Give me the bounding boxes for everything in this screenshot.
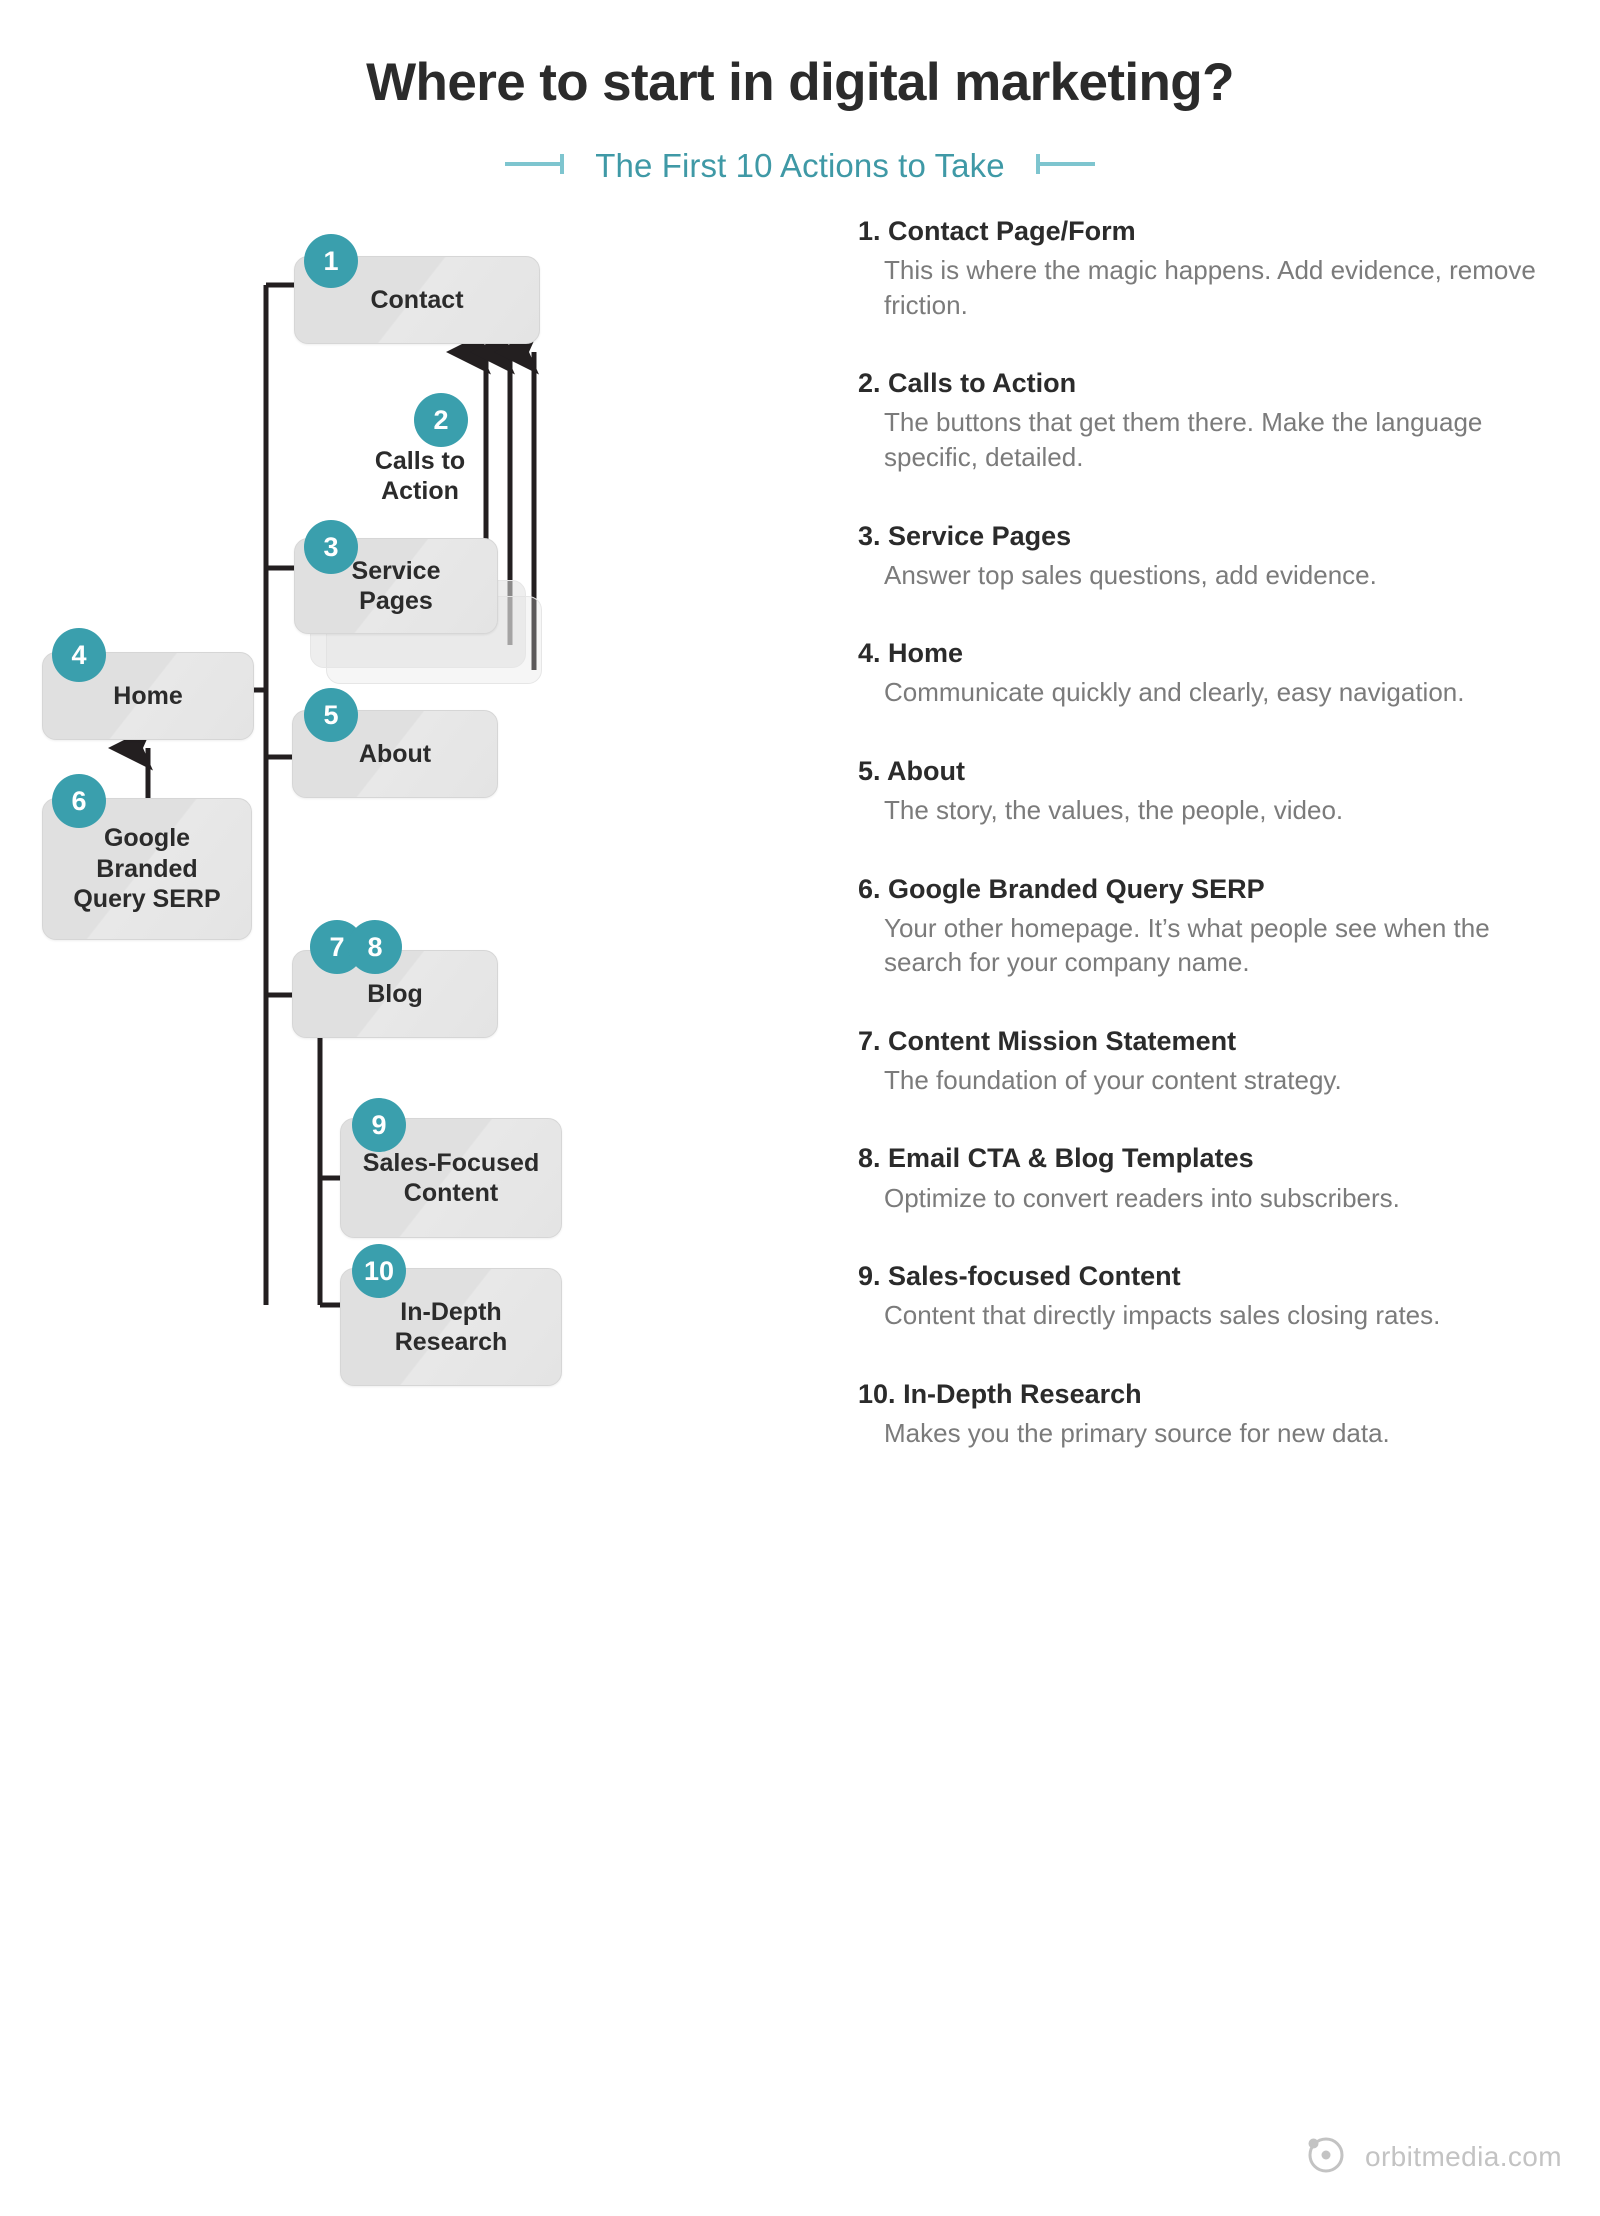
node-in-depth-research-label: In-Depth Research — [381, 1297, 522, 1358]
step-heading: In-Depth Research — [903, 1379, 1142, 1409]
step-heading: Home — [888, 638, 963, 668]
step-item: 9. Sales-focused Content Content that di… — [858, 1259, 1558, 1333]
badge-4: 4 — [52, 628, 106, 682]
step-description: Content that directly impacts sales clos… — [858, 1298, 1558, 1333]
step-description: The foundation of your content strategy. — [858, 1063, 1558, 1098]
step-item: 1. Contact Page/Form This is where the m… — [858, 214, 1558, 322]
content-area: Contact 1 Calls to Action 2 Service Page… — [0, 200, 1600, 2100]
badge-2: 2 — [414, 393, 468, 447]
step-heading: About — [887, 756, 965, 786]
step-description: The story, the values, the people, video… — [858, 793, 1558, 828]
step-number: 3. — [858, 521, 881, 551]
step-item: 3. Service Pages Answer top sales questi… — [858, 519, 1558, 593]
step-number: 8. — [858, 1143, 881, 1173]
step-heading: Email CTA & Blog Templates — [888, 1143, 1254, 1173]
node-service-pages-label: Service Pages — [338, 556, 455, 617]
step-item: 7. Content Mission Statement The foundat… — [858, 1024, 1558, 1098]
node-google-serp-label: Google Branded Query SERP — [59, 823, 234, 915]
step-heading: Content Mission Statement — [888, 1026, 1236, 1056]
node-calls-to-action-label: Calls to Action — [361, 446, 479, 507]
sitemap-diagram: Contact 1 Calls to Action 2 Service Page… — [0, 200, 820, 2100]
step-number: 2. — [858, 368, 881, 398]
node-home-label: Home — [99, 681, 196, 712]
step-title: 8. Email CTA & Blog Templates — [858, 1141, 1558, 1176]
step-title: 4. Home — [858, 636, 1558, 671]
step-description: Optimize to convert readers into subscri… — [858, 1181, 1558, 1216]
step-description: Makes you the primary source for new dat… — [858, 1416, 1558, 1451]
badge-9: 9 — [352, 1098, 406, 1152]
right-rule-icon — [1031, 151, 1095, 182]
step-number: 9. — [858, 1261, 881, 1291]
step-title: 7. Content Mission Statement — [858, 1024, 1558, 1059]
step-item: 5. About The story, the values, the peop… — [858, 754, 1558, 828]
step-heading: Service Pages — [888, 521, 1071, 551]
step-item: 2. Calls to Action The buttons that get … — [858, 366, 1558, 474]
page-subtitle: The First 10 Actions to Take — [595, 147, 1004, 185]
step-heading: Sales-focused Content — [888, 1261, 1181, 1291]
step-item: 8. Email CTA & Blog Templates Optimize t… — [858, 1141, 1558, 1215]
step-title: 3. Service Pages — [858, 519, 1558, 554]
badge-8: 8 — [348, 920, 402, 974]
step-description: Communicate quickly and clearly, easy na… — [858, 675, 1558, 710]
node-blog-label: Blog — [353, 979, 437, 1010]
step-title: 1. Contact Page/Form — [858, 214, 1558, 249]
badge-10: 10 — [352, 1244, 406, 1298]
step-number: 7. — [858, 1026, 881, 1056]
step-number: 10. — [858, 1379, 896, 1409]
step-number: 5. — [858, 756, 881, 786]
logo-text: orbitmedia.com — [1365, 2141, 1562, 2173]
badge-5: 5 — [304, 688, 358, 742]
step-item: 4. Home Communicate quickly and clearly,… — [858, 636, 1558, 710]
badge-3: 3 — [304, 520, 358, 574]
badge-6: 6 — [52, 774, 106, 828]
node-sales-focused-content-label: Sales-Focused Content — [349, 1148, 553, 1209]
step-description: Your other homepage. It’s what people se… — [858, 911, 1558, 980]
orbit-icon — [1303, 2131, 1349, 2182]
step-title: 5. About — [858, 754, 1558, 789]
footer-logo[interactable]: orbitmedia.com — [1303, 2131, 1562, 2182]
steps-list: 1. Contact Page/Form This is where the m… — [858, 214, 1558, 1494]
step-number: 4. — [858, 638, 881, 668]
step-title: 2. Calls to Action — [858, 366, 1558, 401]
badge-1: 1 — [304, 234, 358, 288]
step-description: Answer top sales questions, add evidence… — [858, 558, 1558, 593]
header: Where to start in digital marketing? The… — [0, 0, 1600, 185]
step-title: 9. Sales-focused Content — [858, 1259, 1558, 1294]
step-heading: Contact Page/Form — [888, 216, 1136, 246]
node-about-label: About — [345, 739, 445, 770]
step-title: 6. Google Branded Query SERP — [858, 872, 1558, 907]
page-title: Where to start in digital marketing? — [0, 52, 1600, 113]
step-item: 6. Google Branded Query SERP Your other … — [858, 872, 1558, 980]
node-calls-to-action: Calls to Action — [340, 440, 500, 512]
node-contact-label: Contact — [356, 285, 477, 316]
step-title: 10. In-Depth Research — [858, 1377, 1558, 1412]
left-rule-icon — [505, 151, 569, 182]
step-heading: Calls to Action — [888, 368, 1076, 398]
step-number: 1. — [858, 216, 881, 246]
subtitle-row: The First 10 Actions to Take — [0, 147, 1600, 185]
step-number: 6. — [858, 874, 881, 904]
step-heading: Google Branded Query SERP — [888, 874, 1265, 904]
step-item: 10. In-Depth Research Makes you the prim… — [858, 1377, 1558, 1451]
step-description: This is where the magic happens. Add evi… — [858, 253, 1558, 322]
step-description: The buttons that get them there. Make th… — [858, 405, 1558, 474]
